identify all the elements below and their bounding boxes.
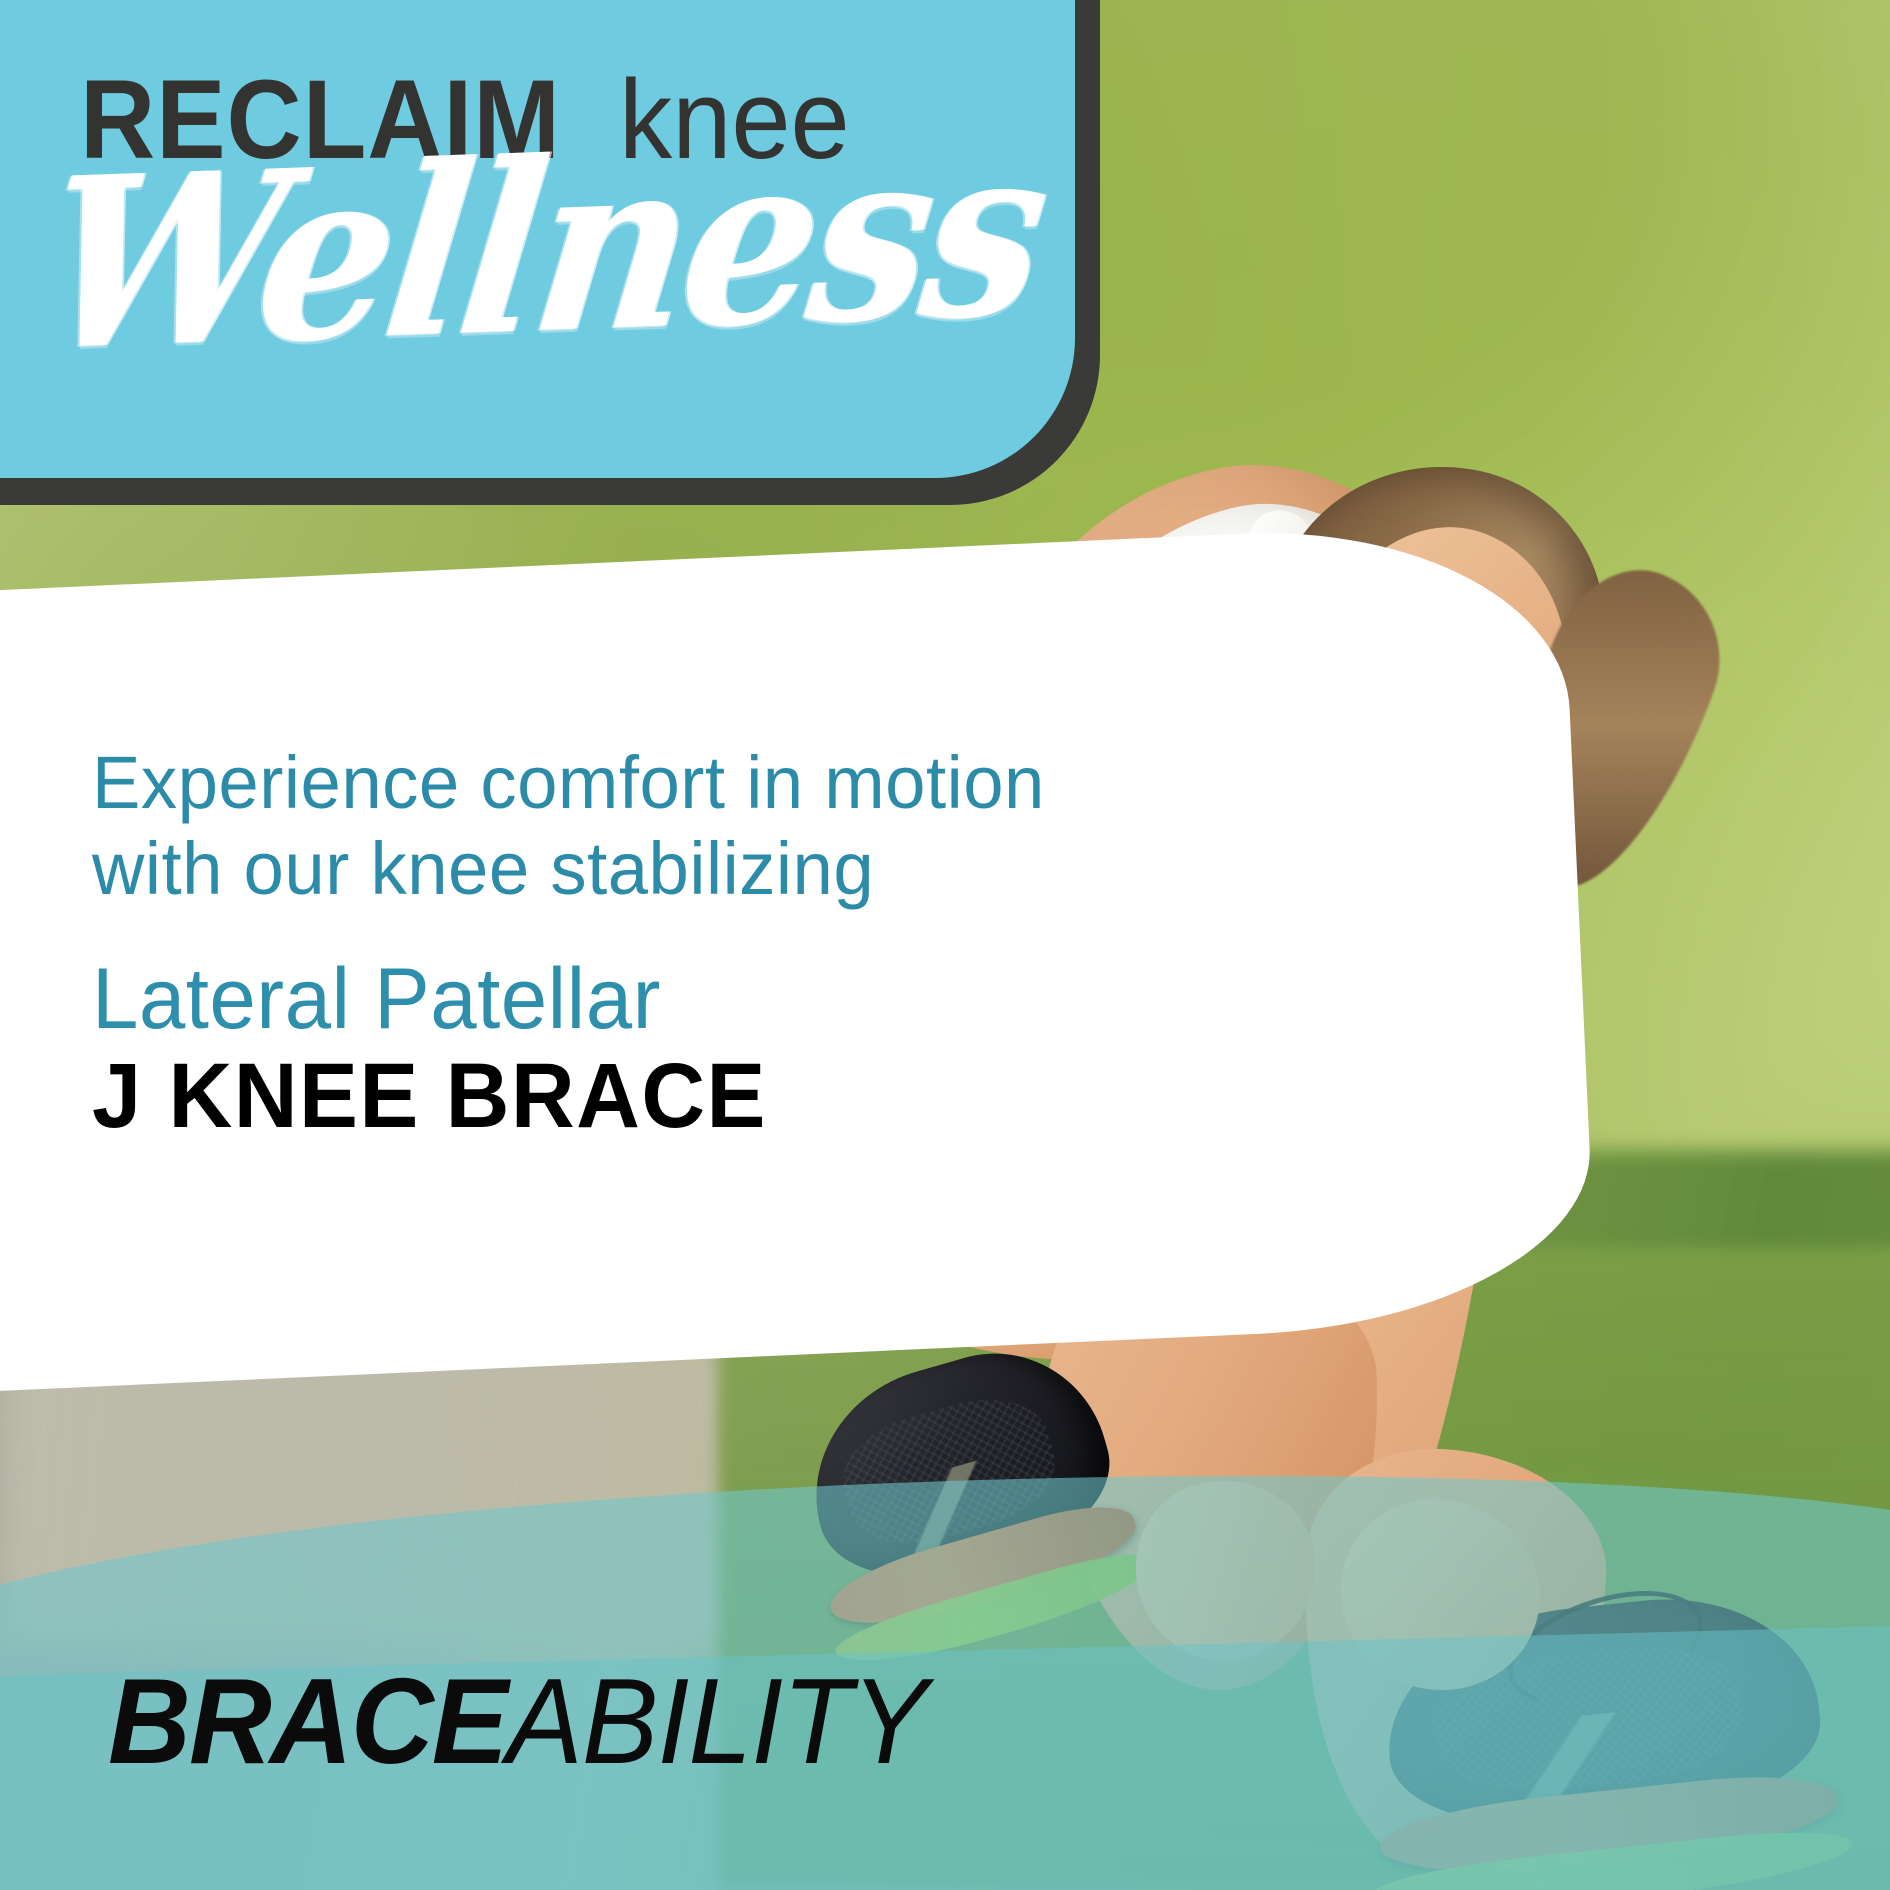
headline-script-word: Wellness (33, 114, 1053, 383)
product-type-label: Lateral Patellar (92, 954, 1111, 1044)
lead-copy: Experience comfort in motion with our kn… (92, 740, 1121, 912)
copy-block: Experience comfort in motion with our kn… (92, 740, 1142, 1145)
product-name-label: J KNEE BRACE (92, 1048, 1100, 1145)
lead-copy-line2: with our knee stabilizing (92, 826, 1121, 912)
brand-logo-bold: BRACE (108, 1653, 506, 1789)
lead-copy-line1: Experience comfort in motion (92, 740, 1121, 826)
product-marketing-poster: RECLAIM knee Wellness Experience comfort… (0, 0, 1890, 1890)
brand-logo-light: ABILITY (506, 1653, 926, 1789)
brand-logo: BRACEABILITY (108, 1660, 927, 1782)
